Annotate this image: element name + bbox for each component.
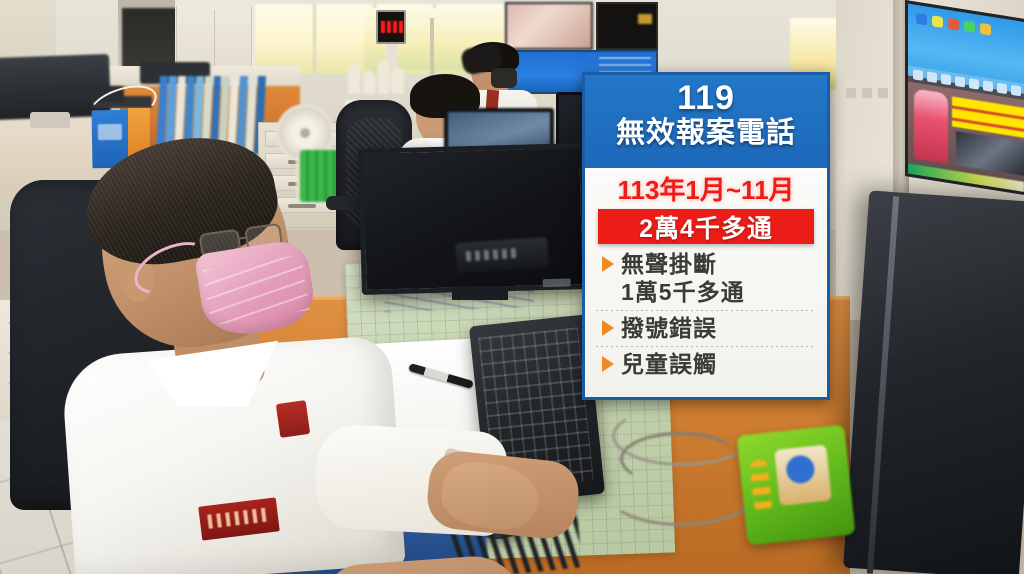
list-item: 撥號錯誤 <box>592 314 820 342</box>
headline-subtitle: 無效報案電話 <box>585 117 827 149</box>
shoulder-patch <box>276 400 310 438</box>
person-foreground <box>24 150 494 574</box>
television-right <box>905 0 1024 195</box>
triangle-right-icon <box>602 320 614 336</box>
list-divider <box>596 346 816 347</box>
wall-screen-b <box>596 2 658 50</box>
total-banner: 2萬4千多通 <box>598 209 814 244</box>
tv-desktop-icons <box>916 13 1020 43</box>
background-scene <box>0 0 1024 574</box>
list-item-label: 撥號錯誤 <box>621 314 717 342</box>
led-sign <box>376 10 406 44</box>
list-item: 無聲掛斷 <box>592 250 820 278</box>
list-item: 兒童誤觸 <box>592 350 820 378</box>
wall-marks <box>846 88 892 100</box>
triangle-right-icon <box>602 356 614 372</box>
broadcast-frame: 119 無效報案電話 113年1月~11月 2萬4千多通 無聲掛斷 1萬5千多通… <box>0 0 1024 574</box>
list-divider <box>596 310 816 311</box>
overlay-body: 113年1月~11月 2萬4千多通 無聲掛斷 1萬5千多通 撥號錯誤 <box>585 168 827 400</box>
snack-bag <box>737 425 856 546</box>
news-overlay-panel: 119 無效報案電話 113年1月~11月 2萬4千多通 無聲掛斷 1萬5千多通… <box>582 72 830 400</box>
headline-number: 119 <box>585 79 827 117</box>
overlay-header: 119 無效報案電話 <box>585 75 827 168</box>
reason-list: 無聲掛斷 1萬5千多通 撥號錯誤 兒童誤觸 <box>592 250 820 378</box>
total-label: 2萬4千多通 <box>639 209 773 245</box>
desk-figurines <box>348 58 404 94</box>
list-item-detail: 1萬5千多通 <box>592 278 820 306</box>
list-item-label: 兒童誤觸 <box>621 350 717 378</box>
list-item-label: 無聲掛斷 <box>621 250 717 278</box>
monitor-stand-left <box>30 112 70 128</box>
period-label: 113年1月~11月 <box>592 174 820 206</box>
wall-screen-a <box>505 2 593 50</box>
face-mask <box>194 238 318 340</box>
triangle-right-icon <box>602 256 614 272</box>
